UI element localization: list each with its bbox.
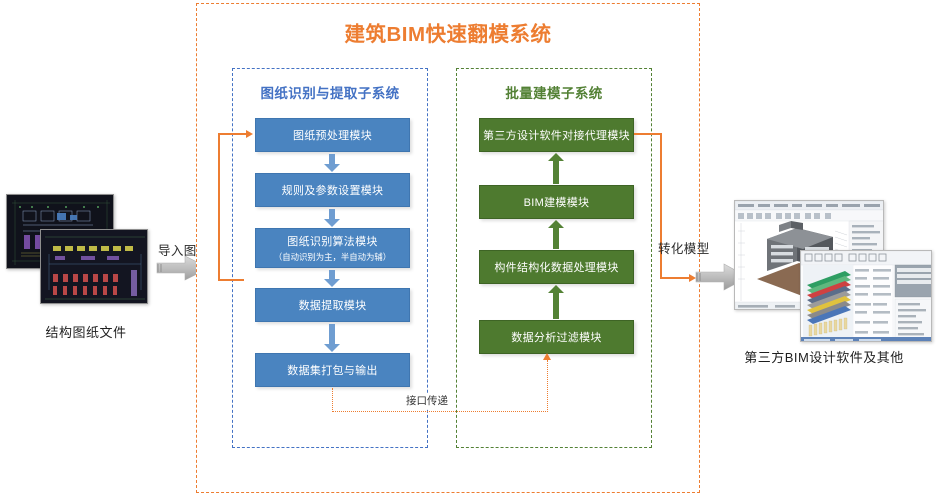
module-label: BIM建模模块 xyxy=(524,194,590,210)
export-line-from-agent xyxy=(634,133,662,135)
feedback-arrowhead-into-preprocess xyxy=(246,130,253,138)
left-endpoint-caption: 结构图纸文件 xyxy=(6,322,166,341)
cad-drawing-thumbnail-front xyxy=(40,229,148,304)
interface-arrowhead-into-filter xyxy=(543,353,551,360)
module-dataset-package-output[interactable]: 数据集打包与输出 xyxy=(255,353,410,387)
export-line-vertical xyxy=(660,133,662,279)
interface-line-horizontal xyxy=(332,411,548,412)
flow-arrow-l1-l2 xyxy=(324,154,340,172)
feedback-line-left-bottom xyxy=(218,279,244,281)
subsystem-title-drawing-recognition: 图纸识别与提取子系统 xyxy=(232,82,428,102)
flow-arrow-l4-l5 xyxy=(324,324,340,352)
bim-software-icon xyxy=(801,251,932,342)
module-label: 构件结构化数据处理模块 xyxy=(494,259,618,275)
feedback-line-left-vertical xyxy=(218,133,220,281)
module-label: 图纸预处理模块 xyxy=(293,127,372,143)
module-component-structured-data-processing[interactable]: 构件结构化数据处理模块 xyxy=(479,250,634,284)
module-sublabel: （自动识别为主，半自动为辅） xyxy=(274,251,391,263)
module-label: 数据提取模块 xyxy=(299,297,367,313)
export-flow-label: 转化模型 xyxy=(658,238,710,257)
interface-transfer-label: 接口传递 xyxy=(404,393,450,408)
flow-arrow-r4-r3 xyxy=(548,285,564,319)
module-label: 第三方设计软件对接代理模块 xyxy=(483,127,630,143)
feedback-line-left-top xyxy=(218,133,247,135)
module-label: 图纸识别算法模块 xyxy=(287,233,377,249)
module-bim-modeling[interactable]: BIM建模模块 xyxy=(479,185,634,219)
module-drawing-recognition-algorithm[interactable]: 图纸识别算法模块 （自动识别为主，半自动为辅） xyxy=(255,228,410,268)
module-third-party-software-agent[interactable]: 第三方设计软件对接代理模块 xyxy=(479,118,634,152)
subsystem-title-batch-modeling: 批量建模子系统 xyxy=(456,82,652,102)
right-endpoint-caption: 第三方BIM设计软件及其他 xyxy=(716,347,932,366)
diagram-canvas: 结构图纸文件 导入图纸 建筑BIM快速翻模系统 图纸识别与提取子系统 图纸预处理… xyxy=(0,0,938,500)
module-drawing-preprocess[interactable]: 图纸预处理模块 xyxy=(255,118,410,152)
cad-drawing-icon xyxy=(41,230,148,304)
bim-screenshot-layered-model xyxy=(800,250,932,342)
module-label: 数据分析过滤模块 xyxy=(511,329,601,345)
module-label: 规则及参数设置模块 xyxy=(282,182,384,198)
flow-arrow-l2-l3 xyxy=(324,209,340,227)
flow-arrow-r3-r2 xyxy=(548,220,564,249)
interface-line-to-filter xyxy=(547,360,548,412)
page-title: 建筑BIM快速翻模系统 xyxy=(196,17,700,47)
module-data-extraction[interactable]: 数据提取模块 xyxy=(255,288,410,322)
module-rule-parameter-setting[interactable]: 规则及参数设置模块 xyxy=(255,173,410,207)
module-label: 数据集打包与输出 xyxy=(287,362,377,378)
flow-arrow-r2-r1 xyxy=(548,153,564,184)
module-data-analysis-filter[interactable]: 数据分析过滤模块 xyxy=(479,320,634,354)
interface-line-from-output xyxy=(332,388,333,412)
flow-arrow-l3-l4 xyxy=(324,270,340,287)
export-line-to-arrow xyxy=(660,277,690,279)
